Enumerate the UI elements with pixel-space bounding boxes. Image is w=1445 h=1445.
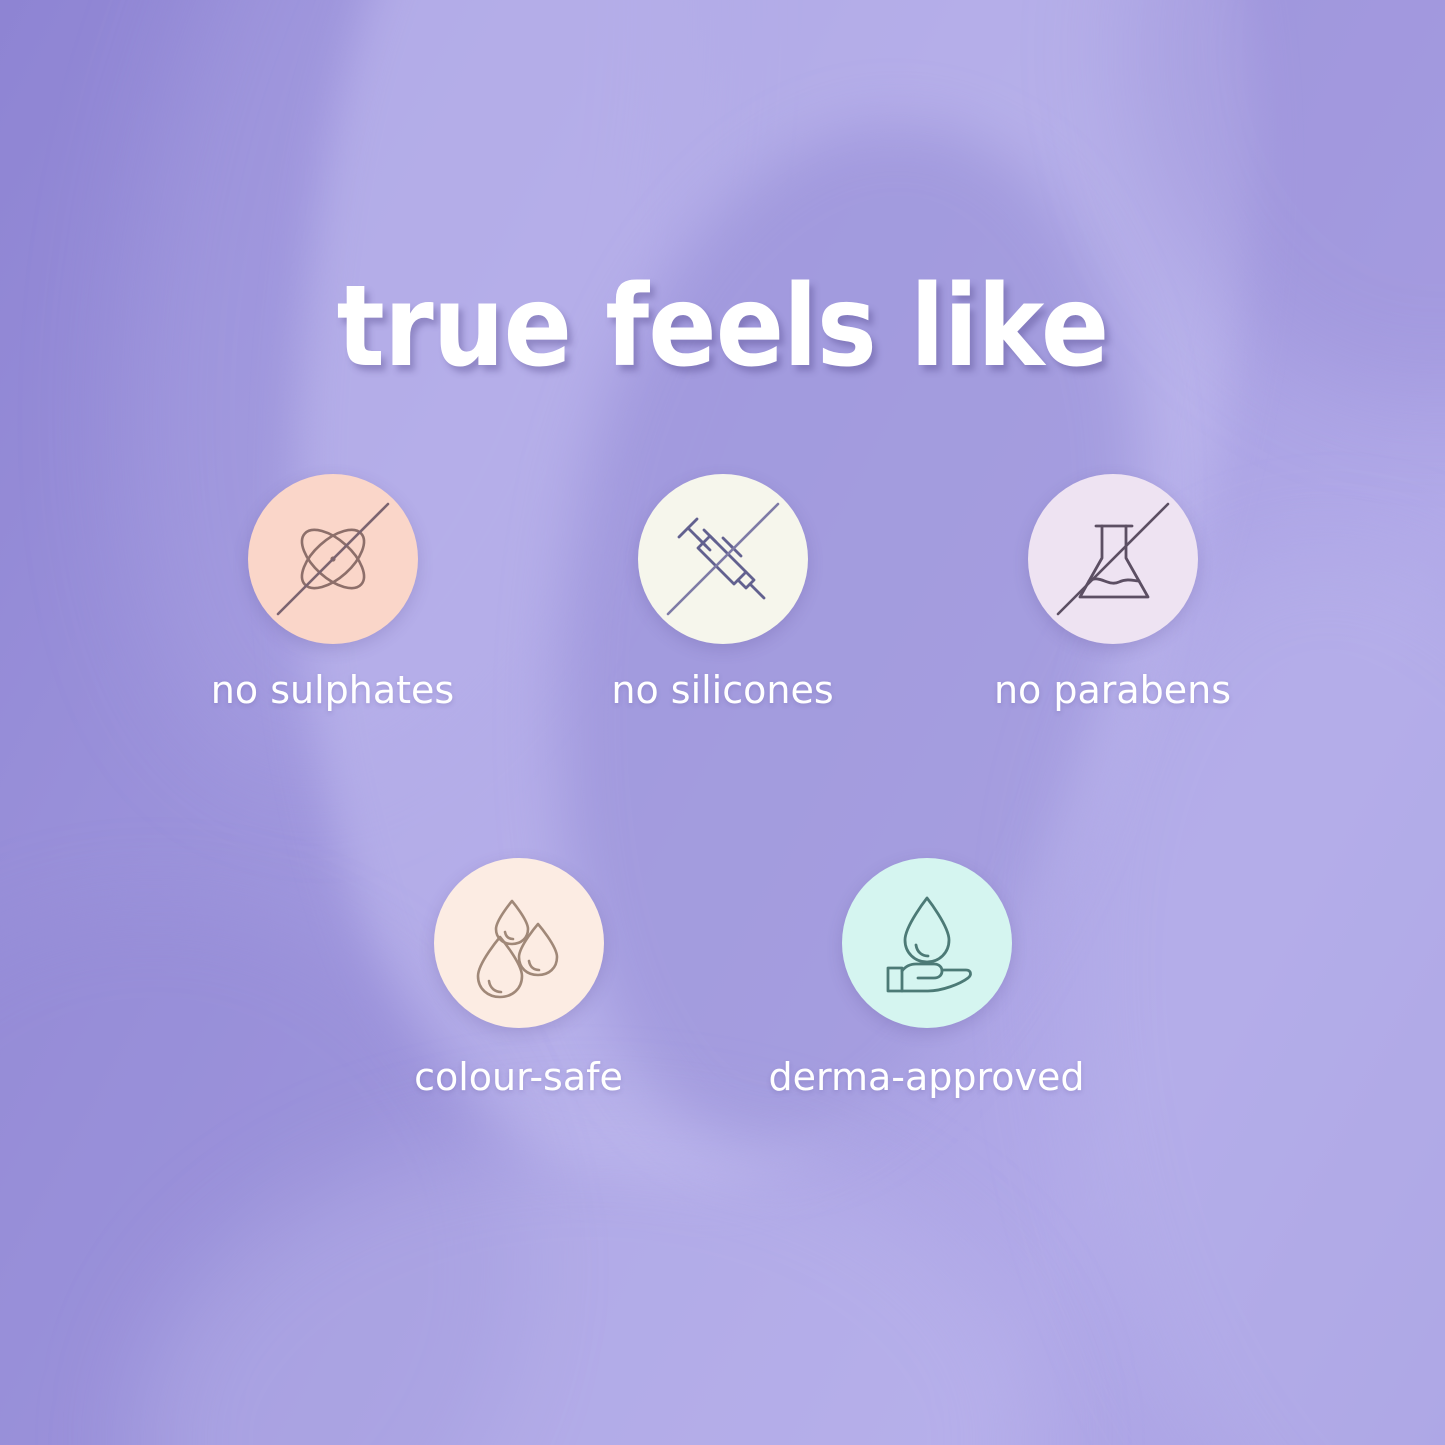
page-title: true feels like: [72, 271, 1373, 383]
syringe-icon: [638, 474, 808, 644]
badge-disc: [638, 474, 808, 644]
badge-no-parabens[interactable]: no parabens: [1023, 474, 1203, 711]
flask-icon: [1028, 474, 1198, 644]
atom-icon: [248, 474, 418, 644]
badge-row-bottom: colour-safe: [0, 858, 1445, 1098]
badge-disc: [248, 474, 418, 644]
badge-label: no sulphates: [211, 671, 454, 711]
badge-no-silicones[interactable]: no silicones: [633, 474, 813, 711]
badge-disc: [434, 858, 604, 1028]
badge-disc: [842, 858, 1012, 1028]
badge-colour-safe[interactable]: colour-safe: [429, 858, 609, 1098]
badge-row-top: no sulphates: [0, 474, 1445, 711]
strike-through-line: [278, 504, 388, 614]
badge-label: colour-safe: [414, 1058, 623, 1098]
water-drops-icon: [434, 858, 604, 1028]
badge-label: no parabens: [994, 671, 1231, 711]
strike-through-line: [668, 504, 778, 614]
badge-derma-approved[interactable]: derma-approved: [837, 858, 1017, 1098]
badge-no-sulphates[interactable]: no sulphates: [243, 474, 423, 711]
promo-graphic: true feels like no sulphates: [0, 0, 1445, 1445]
badge-disc: [1028, 474, 1198, 644]
hand-holding-drop-icon: [842, 858, 1012, 1028]
badge-label: no silicones: [611, 671, 833, 711]
badge-label: derma-approved: [768, 1058, 1084, 1098]
